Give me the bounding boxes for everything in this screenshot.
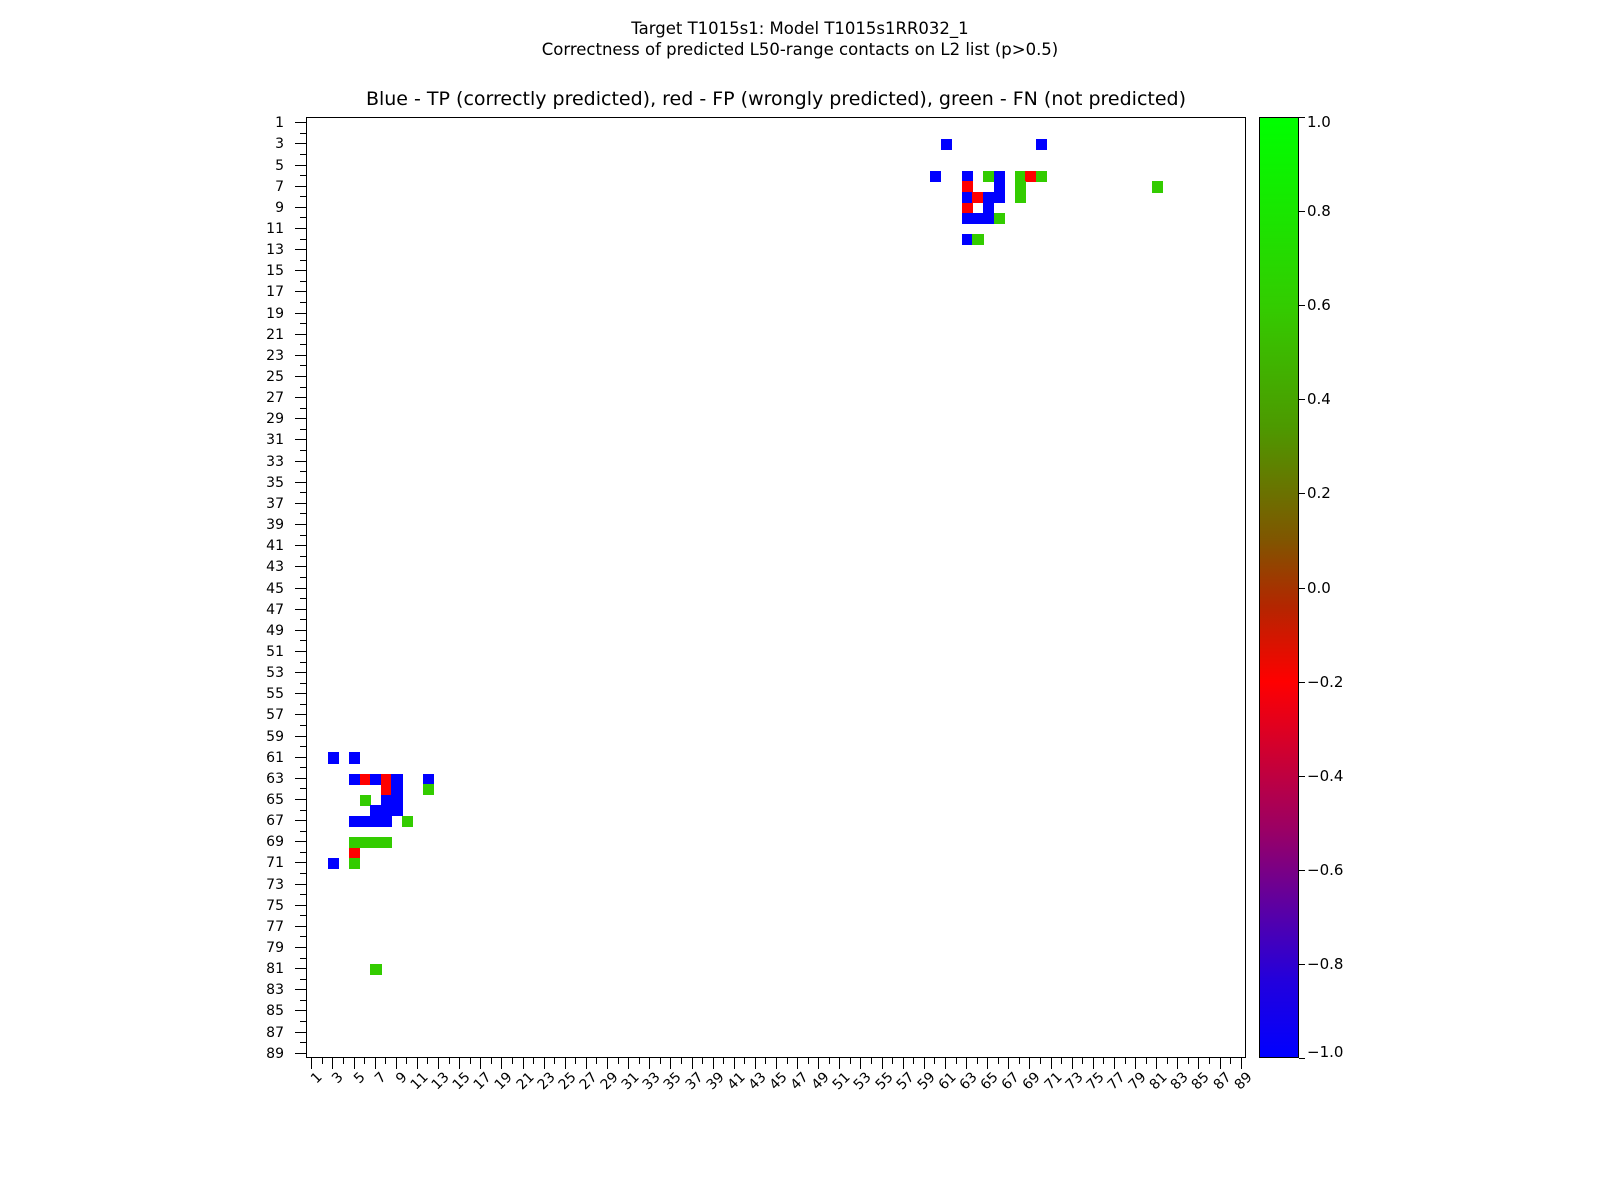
colorbar-tick bbox=[1299, 588, 1305, 589]
x-axis-tick bbox=[765, 1058, 766, 1064]
y-axis-tick-label: 13 bbox=[266, 243, 284, 257]
x-axis-tick bbox=[808, 1058, 809, 1064]
colorbar-tick-label: 1.0 bbox=[1307, 115, 1331, 130]
contact-cell bbox=[1015, 192, 1026, 203]
x-axis-tick bbox=[913, 1058, 914, 1064]
colorbar-tick bbox=[1299, 682, 1305, 683]
x-axis-tick bbox=[1125, 1058, 1126, 1064]
y-axis-tick bbox=[295, 820, 306, 821]
contact-cell bbox=[391, 784, 402, 795]
y-axis-tick bbox=[295, 291, 306, 292]
contact-cell bbox=[360, 795, 371, 806]
y-axis-tick bbox=[295, 165, 306, 166]
y-axis-tick bbox=[300, 492, 306, 493]
y-axis-tick-label: 37 bbox=[266, 497, 284, 511]
x-axis-tick bbox=[1040, 1058, 1041, 1064]
x-axis-tick bbox=[787, 1058, 788, 1064]
x-axis-tick bbox=[311, 1058, 312, 1069]
y-axis-tick bbox=[295, 926, 306, 927]
y-axis-tick bbox=[295, 651, 306, 652]
x-axis-tick bbox=[375, 1058, 376, 1069]
x-axis-tick bbox=[903, 1058, 904, 1069]
x-axis-tick bbox=[533, 1058, 534, 1064]
x-axis-tick bbox=[892, 1058, 893, 1064]
contact-cell bbox=[370, 774, 381, 785]
contact-cell bbox=[381, 795, 392, 806]
y-axis-tick bbox=[300, 408, 306, 409]
x-axis-tick bbox=[1082, 1058, 1083, 1064]
y-axis-tick bbox=[295, 799, 306, 800]
y-axis-tick bbox=[300, 344, 306, 345]
y-axis-tick-label: 15 bbox=[266, 264, 284, 278]
x-axis-labels: 1357911131517192123252729313335373941434… bbox=[306, 1070, 1246, 1130]
contact-cell bbox=[1025, 171, 1036, 182]
contact-cell bbox=[972, 234, 983, 245]
contact-cell bbox=[381, 837, 392, 848]
x-axis-tick bbox=[956, 1058, 957, 1064]
x-axis-tick bbox=[1029, 1058, 1030, 1069]
y-axis-tick-label: 3 bbox=[275, 137, 284, 151]
y-axis-tick bbox=[295, 545, 306, 546]
x-axis-tick bbox=[575, 1058, 576, 1064]
x-axis-tick bbox=[1093, 1058, 1094, 1069]
x-axis-tick bbox=[607, 1058, 608, 1069]
y-axis-tick-label: 57 bbox=[266, 708, 284, 722]
contact-cell bbox=[370, 964, 381, 975]
x-axis-tick bbox=[1146, 1058, 1147, 1064]
x-axis-tick bbox=[734, 1058, 735, 1069]
x-axis-tick bbox=[692, 1058, 693, 1069]
x-axis-tick bbox=[977, 1058, 978, 1064]
y-axis-tick bbox=[295, 313, 306, 314]
x-axis-tick bbox=[1019, 1058, 1020, 1064]
contact-cell bbox=[402, 816, 413, 827]
y-axis-tick bbox=[300, 894, 306, 895]
y-axis-tick-label: 87 bbox=[266, 1026, 284, 1040]
y-axis-tick-label: 89 bbox=[266, 1047, 284, 1061]
y-axis-tick bbox=[295, 566, 306, 567]
contact-cell bbox=[349, 752, 360, 763]
x-axis-tick bbox=[681, 1058, 682, 1064]
y-axis-tick bbox=[300, 323, 306, 324]
y-axis-tick bbox=[300, 513, 306, 514]
x-axis-tick bbox=[702, 1058, 703, 1064]
y-axis-tick-label: 23 bbox=[266, 349, 284, 363]
contact-cell bbox=[349, 816, 360, 827]
x-axis-tick bbox=[1156, 1058, 1157, 1069]
contact-cell bbox=[1036, 139, 1047, 150]
x-axis-tick bbox=[1008, 1058, 1009, 1069]
y-axis-tick-label: 53 bbox=[266, 666, 284, 680]
contact-cell bbox=[381, 805, 392, 816]
x-axis-tick bbox=[628, 1058, 629, 1069]
y-axis-tick bbox=[300, 979, 306, 980]
y-axis-tick-label: 1 bbox=[275, 116, 284, 130]
colorbar bbox=[1259, 117, 1299, 1058]
x-axis-tick bbox=[438, 1058, 439, 1069]
contact-cell-layer bbox=[307, 118, 1245, 1057]
x-axis-tick bbox=[1135, 1058, 1136, 1069]
y-axis-tick bbox=[295, 249, 306, 250]
y-axis-tick-label: 73 bbox=[266, 878, 284, 892]
contact-cell bbox=[423, 774, 434, 785]
x-axis-ticks bbox=[306, 1058, 1246, 1070]
x-axis-tick bbox=[744, 1058, 745, 1064]
contact-cell bbox=[349, 837, 360, 848]
contact-cell bbox=[994, 213, 1005, 224]
y-axis-tick-label: 29 bbox=[266, 412, 284, 426]
contact-cell bbox=[962, 171, 973, 182]
contact-map-plot bbox=[306, 117, 1246, 1058]
x-axis-tick bbox=[934, 1058, 935, 1064]
y-axis-tick bbox=[300, 154, 306, 155]
y-axis-tick-label: 55 bbox=[266, 687, 284, 701]
colorbar-tick bbox=[1299, 493, 1305, 494]
y-axis-tick bbox=[300, 810, 306, 811]
y-axis-tick bbox=[300, 535, 306, 536]
y-axis-tick bbox=[295, 778, 306, 779]
x-axis-tick bbox=[406, 1058, 407, 1064]
y-axis-tick bbox=[295, 736, 306, 737]
y-axis-tick-label: 9 bbox=[275, 201, 284, 215]
y-axis-tick bbox=[295, 905, 306, 906]
contact-cell bbox=[391, 805, 402, 816]
y-axis-tick-label: 79 bbox=[266, 941, 284, 955]
y-axis-tick-label: 67 bbox=[266, 814, 284, 828]
y-axis-tick bbox=[295, 439, 306, 440]
x-axis-tick bbox=[871, 1058, 872, 1064]
y-axis-tick bbox=[300, 662, 306, 663]
x-axis-tick bbox=[1103, 1058, 1104, 1064]
x-axis-tick bbox=[839, 1058, 840, 1069]
y-axis-tick bbox=[300, 577, 306, 578]
contact-cell bbox=[370, 837, 381, 848]
x-axis-tick bbox=[1241, 1058, 1242, 1069]
colorbar-tick-label: −0.2 bbox=[1307, 675, 1343, 690]
colorbar-tick bbox=[1299, 964, 1305, 965]
x-axis-tick bbox=[860, 1058, 861, 1069]
x-axis-tick bbox=[966, 1058, 967, 1069]
colorbar-tick-label: −0.6 bbox=[1307, 863, 1343, 878]
y-axis-tick-label: 45 bbox=[266, 582, 284, 596]
y-axis-tick bbox=[300, 556, 306, 557]
contact-cell bbox=[1015, 171, 1026, 182]
x-axis-tick bbox=[523, 1058, 524, 1069]
x-axis-tick bbox=[501, 1058, 502, 1069]
x-axis-tick bbox=[596, 1058, 597, 1064]
y-axis-tick bbox=[300, 239, 306, 240]
y-axis-tick bbox=[295, 862, 306, 863]
colorbar-tick-label: −1.0 bbox=[1307, 1045, 1343, 1060]
contact-cell bbox=[360, 774, 371, 785]
y-axis-tick bbox=[300, 387, 306, 388]
x-axis-tick bbox=[1167, 1058, 1168, 1064]
y-axis-tick-label: 59 bbox=[266, 730, 284, 744]
y-axis-tick bbox=[295, 334, 306, 335]
y-axis-tick bbox=[295, 122, 306, 123]
y-axis-tick bbox=[295, 588, 306, 589]
y-axis-tick bbox=[300, 429, 306, 430]
x-axis-tick bbox=[544, 1058, 545, 1069]
y-axis-tick-label: 33 bbox=[266, 455, 284, 469]
y-axis-tick-label: 63 bbox=[266, 772, 284, 786]
y-axis-tick-label: 7 bbox=[275, 180, 284, 194]
contact-cell bbox=[983, 213, 994, 224]
x-axis-tick bbox=[1230, 1058, 1231, 1064]
x-axis-tick bbox=[417, 1058, 418, 1069]
y-axis-tick bbox=[300, 260, 306, 261]
x-axis-tick bbox=[1051, 1058, 1052, 1069]
y-axis-tick-label: 77 bbox=[266, 920, 284, 934]
y-axis-tick bbox=[295, 376, 306, 377]
contact-cell bbox=[391, 774, 402, 785]
y-axis-tick bbox=[300, 196, 306, 197]
x-axis-tick bbox=[586, 1058, 587, 1069]
y-axis-tick bbox=[295, 630, 306, 631]
x-axis-tick bbox=[1114, 1058, 1115, 1069]
figure-suptitle-line-1: Target T1015s1: Model T1015s1RR032_1 bbox=[0, 18, 1600, 39]
y-axis-tick bbox=[300, 1000, 306, 1001]
y-axis-tick bbox=[295, 841, 306, 842]
contact-cell bbox=[962, 234, 973, 245]
y-axis-tick bbox=[300, 640, 306, 641]
x-axis-tick bbox=[565, 1058, 566, 1069]
y-axis-tick bbox=[300, 471, 306, 472]
contact-cell bbox=[962, 213, 973, 224]
contact-cell bbox=[381, 784, 392, 795]
x-axis-tick bbox=[776, 1058, 777, 1069]
y-axis-tick-label: 27 bbox=[266, 391, 284, 405]
contact-cell bbox=[972, 213, 983, 224]
y-axis-tick bbox=[295, 482, 306, 483]
y-axis-tick-label: 31 bbox=[266, 433, 284, 447]
contact-cell bbox=[972, 192, 983, 203]
y-axis-tick bbox=[295, 524, 306, 525]
y-axis-tick-label: 71 bbox=[266, 856, 284, 870]
contact-cell bbox=[349, 774, 360, 785]
contact-cell bbox=[1015, 181, 1026, 192]
y-axis-tick bbox=[295, 968, 306, 969]
y-axis-tick bbox=[300, 746, 306, 747]
y-axis-tick-label: 21 bbox=[266, 328, 284, 342]
y-axis-tick-label: 17 bbox=[266, 285, 284, 299]
y-axis-tick bbox=[300, 365, 306, 366]
colorbar-tick-labels: 1.00.80.60.40.20.0−0.2−0.4−0.6−0.8−1.0 bbox=[1307, 117, 1377, 1058]
y-axis-tick-label: 81 bbox=[266, 962, 284, 976]
y-axis-tick bbox=[300, 281, 306, 282]
contact-cell bbox=[1152, 181, 1163, 192]
x-axis-tick bbox=[385, 1058, 386, 1064]
y-axis-tick-label: 5 bbox=[275, 159, 284, 173]
y-axis-tick bbox=[300, 704, 306, 705]
colorbar-tick-label: 0.2 bbox=[1307, 486, 1331, 501]
y-axis-tick bbox=[295, 884, 306, 885]
colorbar-tick bbox=[1299, 305, 1305, 306]
y-axis-tick bbox=[300, 1042, 306, 1043]
x-axis-tick bbox=[797, 1058, 798, 1069]
y-axis-tick bbox=[300, 958, 306, 959]
y-axis-tick bbox=[300, 598, 306, 599]
contact-cell bbox=[349, 848, 360, 859]
y-axis-tick bbox=[300, 217, 306, 218]
colorbar-tick-label: 0.4 bbox=[1307, 392, 1331, 407]
contact-cell bbox=[994, 192, 1005, 203]
y-axis-tick bbox=[295, 186, 306, 187]
x-axis-tick bbox=[470, 1058, 471, 1064]
colorbar-gradient bbox=[1259, 117, 1299, 1058]
contact-cell bbox=[391, 795, 402, 806]
contact-cell bbox=[360, 816, 371, 827]
y-axis-tick-label: 19 bbox=[266, 307, 284, 321]
colorbar-tick-label: −0.4 bbox=[1307, 769, 1343, 784]
contact-cell bbox=[328, 858, 339, 869]
contact-cell bbox=[328, 752, 339, 763]
y-axis-tick bbox=[300, 915, 306, 916]
colorbar-tick bbox=[1299, 1058, 1305, 1059]
x-axis-tick bbox=[998, 1058, 999, 1064]
x-axis-tick bbox=[512, 1058, 513, 1064]
x-axis-tick bbox=[1177, 1058, 1178, 1069]
y-axis-tick-label: 35 bbox=[266, 476, 284, 490]
x-axis-tick bbox=[1198, 1058, 1199, 1069]
y-axis-tick-label: 41 bbox=[266, 539, 284, 553]
contact-cell bbox=[1036, 171, 1047, 182]
x-axis-tick bbox=[480, 1058, 481, 1069]
x-axis-tick bbox=[723, 1058, 724, 1064]
colorbar-tick-label: 0.0 bbox=[1307, 581, 1331, 596]
y-axis-tick-label: 43 bbox=[266, 560, 284, 574]
y-axis-tick bbox=[300, 831, 306, 832]
y-axis-tick bbox=[295, 672, 306, 673]
y-axis-tick-label: 83 bbox=[266, 983, 284, 997]
x-axis-tick bbox=[332, 1058, 333, 1069]
x-axis-tick bbox=[945, 1058, 946, 1069]
y-axis-tick bbox=[295, 693, 306, 694]
contact-cell bbox=[381, 774, 392, 785]
x-axis-tick bbox=[649, 1058, 650, 1069]
contact-cell bbox=[962, 203, 973, 214]
y-axis-tick bbox=[300, 767, 306, 768]
y-axis-tick-label: 51 bbox=[266, 645, 284, 659]
x-axis-tick bbox=[1188, 1058, 1189, 1064]
x-axis-tick bbox=[1061, 1058, 1062, 1064]
contact-cell bbox=[962, 192, 973, 203]
y-axis-tick bbox=[295, 207, 306, 208]
contact-cell bbox=[983, 171, 994, 182]
figure-suptitle-line-2: Correctness of predicted L50-range conta… bbox=[0, 39, 1600, 60]
x-axis-tick bbox=[755, 1058, 756, 1069]
colorbar-tick bbox=[1299, 117, 1305, 118]
x-axis-tick bbox=[491, 1058, 492, 1064]
x-axis-tick bbox=[660, 1058, 661, 1064]
colorbar-tick-label: 0.6 bbox=[1307, 298, 1331, 313]
y-axis-tick bbox=[300, 302, 306, 303]
y-axis-tick-label: 69 bbox=[266, 835, 284, 849]
colorbar-tick bbox=[1299, 211, 1305, 212]
x-axis-tick bbox=[829, 1058, 830, 1064]
contact-cell bbox=[349, 858, 360, 869]
y-axis-tick bbox=[295, 1032, 306, 1033]
x-axis-tick bbox=[670, 1058, 671, 1069]
contact-cell bbox=[370, 816, 381, 827]
contact-cell bbox=[983, 203, 994, 214]
colorbar-ticks bbox=[1299, 117, 1307, 1058]
y-axis-tick-label: 61 bbox=[266, 751, 284, 765]
x-axis-tick bbox=[850, 1058, 851, 1064]
y-axis-tick-label: 25 bbox=[266, 370, 284, 384]
y-axis-ticks bbox=[294, 117, 306, 1058]
x-axis-tick bbox=[639, 1058, 640, 1064]
contact-cell bbox=[994, 171, 1005, 182]
y-axis-tick bbox=[295, 1053, 306, 1054]
y-axis-tick bbox=[295, 143, 306, 144]
y-axis-labels: 1357911131517192123252729313335373941434… bbox=[0, 117, 296, 1058]
colorbar-tick-label: −0.8 bbox=[1307, 957, 1343, 972]
x-axis-tick bbox=[459, 1058, 460, 1069]
y-axis-tick bbox=[300, 450, 306, 451]
y-axis-tick-label: 11 bbox=[266, 222, 284, 236]
y-axis-tick-label: 49 bbox=[266, 624, 284, 638]
x-axis-tick bbox=[818, 1058, 819, 1069]
y-axis-tick bbox=[295, 461, 306, 462]
contact-cell bbox=[381, 816, 392, 827]
colorbar-tick bbox=[1299, 399, 1305, 400]
x-axis-tick bbox=[554, 1058, 555, 1064]
y-axis-tick bbox=[295, 397, 306, 398]
y-axis-tick bbox=[300, 852, 306, 853]
contact-cell bbox=[370, 805, 381, 816]
x-axis-tick bbox=[354, 1058, 355, 1069]
x-axis-tick bbox=[618, 1058, 619, 1064]
colorbar-tick bbox=[1299, 870, 1305, 871]
y-axis-tick bbox=[295, 1010, 306, 1011]
contact-cell bbox=[360, 837, 371, 848]
y-axis-tick-label: 65 bbox=[266, 793, 284, 807]
y-axis-tick bbox=[300, 873, 306, 874]
contact-cell bbox=[994, 181, 1005, 192]
y-axis-tick bbox=[295, 418, 306, 419]
y-axis-tick bbox=[295, 355, 306, 356]
y-axis-tick bbox=[300, 936, 306, 937]
y-axis-tick bbox=[295, 609, 306, 610]
y-axis-tick bbox=[300, 133, 306, 134]
y-axis-tick bbox=[300, 619, 306, 620]
y-axis-tick bbox=[295, 270, 306, 271]
contact-cell bbox=[983, 192, 994, 203]
y-axis-tick-label: 85 bbox=[266, 1004, 284, 1018]
x-axis-tick bbox=[987, 1058, 988, 1069]
contact-cell bbox=[930, 171, 941, 182]
axes-title-legend: Blue - TP (correctly predicted), red - F… bbox=[306, 88, 1246, 110]
x-axis-tick bbox=[449, 1058, 450, 1064]
y-axis-tick-label: 47 bbox=[266, 603, 284, 617]
y-axis-tick bbox=[295, 228, 306, 229]
x-axis-tick bbox=[1220, 1058, 1221, 1069]
y-axis-tick-label: 39 bbox=[266, 518, 284, 532]
y-axis-tick bbox=[295, 947, 306, 948]
y-axis-tick bbox=[300, 175, 306, 176]
colorbar-tick bbox=[1299, 776, 1305, 777]
y-axis-tick bbox=[300, 788, 306, 789]
x-axis-tick bbox=[364, 1058, 365, 1064]
x-axis-tick bbox=[396, 1058, 397, 1069]
y-axis-tick-label: 75 bbox=[266, 899, 284, 913]
contact-cell bbox=[423, 784, 434, 795]
y-axis-tick bbox=[295, 989, 306, 990]
x-axis-tick bbox=[882, 1058, 883, 1069]
x-axis-tick bbox=[924, 1058, 925, 1069]
x-axis-tick bbox=[427, 1058, 428, 1064]
